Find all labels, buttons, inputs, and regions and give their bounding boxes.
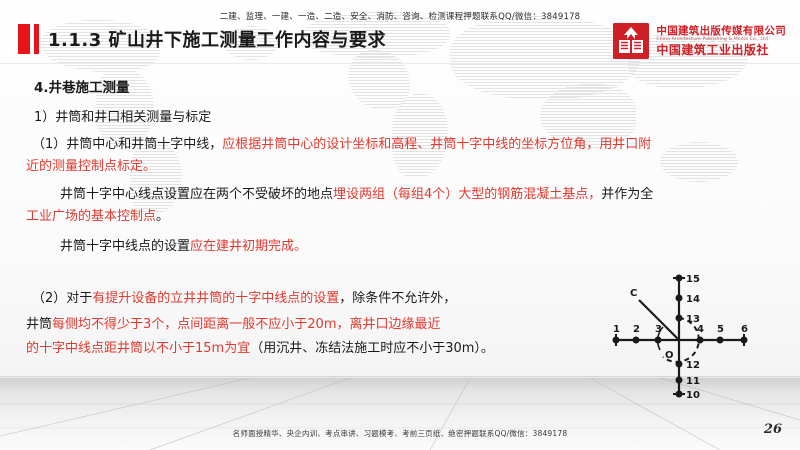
paragraph-4-red-3: 的十字中线点距井筒以不小于15m为宜 — [26, 341, 250, 356]
paragraph-4-black-1: ，除条件不允许外， — [339, 291, 456, 306]
paragraph-4-red-1: 有提升设备的立井井筒的十字中线点的设置 — [92, 291, 339, 306]
paragraph-2-red-line2: 工业广场的基本控制点 — [26, 209, 156, 224]
diagram-label-4: 4 — [697, 324, 704, 335]
diagram-label-13: 13 — [686, 314, 700, 325]
list-item-1: 1）井筒和井口相关测量与标定 — [34, 108, 211, 128]
publisher-logo-icon — [612, 22, 650, 60]
diagram-label-11: 11 — [686, 376, 700, 387]
paragraph-4-line-1: （2）对于有提升设备的立井井筒的十字中线点的设置，除条件不允许外， — [32, 289, 456, 309]
diagram-label-5: 5 — [717, 324, 724, 335]
accent-bar-narrow — [34, 24, 39, 54]
shaft-cross-centerline-diagram: 1 2 3 4 5 6 13 14 15 12 11 10 C O — [608, 272, 793, 407]
paragraph-3-red-tail: 应在建井初期完成。 — [190, 239, 307, 254]
paragraph-2-line-2: 工业广场的基本控制点。 — [26, 207, 169, 227]
publisher-company-name-cn: 中国建筑出版传媒有限公司 — [656, 26, 786, 37]
page-number: 26 — [764, 422, 782, 437]
diagram-label-14: 14 — [686, 294, 700, 305]
footer-text: 名师面授精华、央企内训、考点串讲、习题模考、考前三页纸、绝密押题联系QQ/微信：… — [0, 428, 800, 439]
diagram-label-o: O — [665, 350, 674, 361]
title-accent-bars — [18, 24, 39, 54]
paragraph-4-black-2: 井筒 — [26, 317, 52, 332]
paragraph-4-black-lead: （2）对于 — [32, 291, 92, 306]
diagram-label-2: 2 — [633, 324, 640, 335]
publisher-press-name: 中国建筑工业出版社 — [656, 44, 786, 57]
paragraph-2-line2-tail: 。 — [156, 209, 169, 224]
paragraph-4-line-3: 的十字中线点距井筒以不小于15m为宜（用沉井、冻结法施工时应不小于30m）。 — [26, 339, 494, 359]
paragraph-3: 井筒十字中线点的设置应在建井初期完成。 — [60, 237, 307, 257]
publisher-logo: 中国建筑出版传媒有限公司 China Architecture Publishi… — [612, 22, 786, 60]
paragraph-4-line-2: 井筒每侧均不得少于3个，点间距离一般不应小于20m，离井口边缘最近 — [26, 315, 441, 335]
paragraph-3-black-lead: 井筒十字中线点的设置 — [60, 239, 190, 254]
paragraph-2-line-1: 井筒十字中心线点设置应在两个不受破坏的地点埋设两组（每组4个）大型的钢筋混凝土基… — [60, 185, 653, 205]
paragraph-2-black-lead: 井筒十字中心线点设置应在两个不受破坏的地点 — [60, 187, 333, 202]
paragraph-2-black-tail: 并作为全 — [601, 187, 653, 202]
diagram-label-10: 10 — [686, 390, 700, 401]
paragraph-4-black-3: （用沉井、冻结法施工时应不小于30m）。 — [250, 341, 494, 356]
page-title: 1.1.3 矿山井下施工测量工作内容与要求 — [48, 26, 386, 52]
paragraph-2-red-mid: 埋设两组（每组4个）大型的钢筋混凝土基点， — [333, 187, 601, 202]
slide-canvas: 二建、监理、一建、一造、二造、安全、消防、咨询、检测课程押题联系QQ/微信：38… — [0, 0, 800, 450]
paragraph-1-black-lead: （1）井筒中心和井筒十字中线， — [32, 137, 222, 152]
paragraph-4-red-2: 每侧均不得少于3个，点间距离一般不应小于20m，离井口边缘最近 — [52, 317, 440, 332]
section-heading: 4.井巷施工测量 — [34, 78, 130, 98]
accent-bar-wide — [18, 24, 30, 54]
diagram-label-6: 6 — [741, 324, 748, 335]
diagram-label-1: 1 — [613, 324, 620, 335]
diagram-label-c: C — [630, 288, 637, 299]
diagram-label-15: 15 — [686, 274, 700, 285]
header-divider — [0, 63, 800, 64]
top-banner-text: 二建、监理、一建、一造、二造、安全、消防、咨询、检测课程押题联系QQ/微信：38… — [0, 10, 800, 22]
diagram-label-3: 3 — [655, 324, 662, 335]
paragraph-1-red-tail: 应根据井筒中心的设计坐标和高程、井筒十字中线的坐标方位角，用井口附 — [222, 137, 651, 152]
paragraph-1-line-1: （1）井筒中心和井筒十字中线，应根据井筒中心的设计坐标和高程、井筒十字中线的坐标… — [32, 135, 651, 155]
paragraph-1-line-2: 近的测量控制点标定。 — [26, 157, 156, 177]
publisher-company-name-en: China Architecture Publishing & Media Co… — [656, 38, 786, 43]
diagram-label-12: 12 — [686, 360, 700, 371]
